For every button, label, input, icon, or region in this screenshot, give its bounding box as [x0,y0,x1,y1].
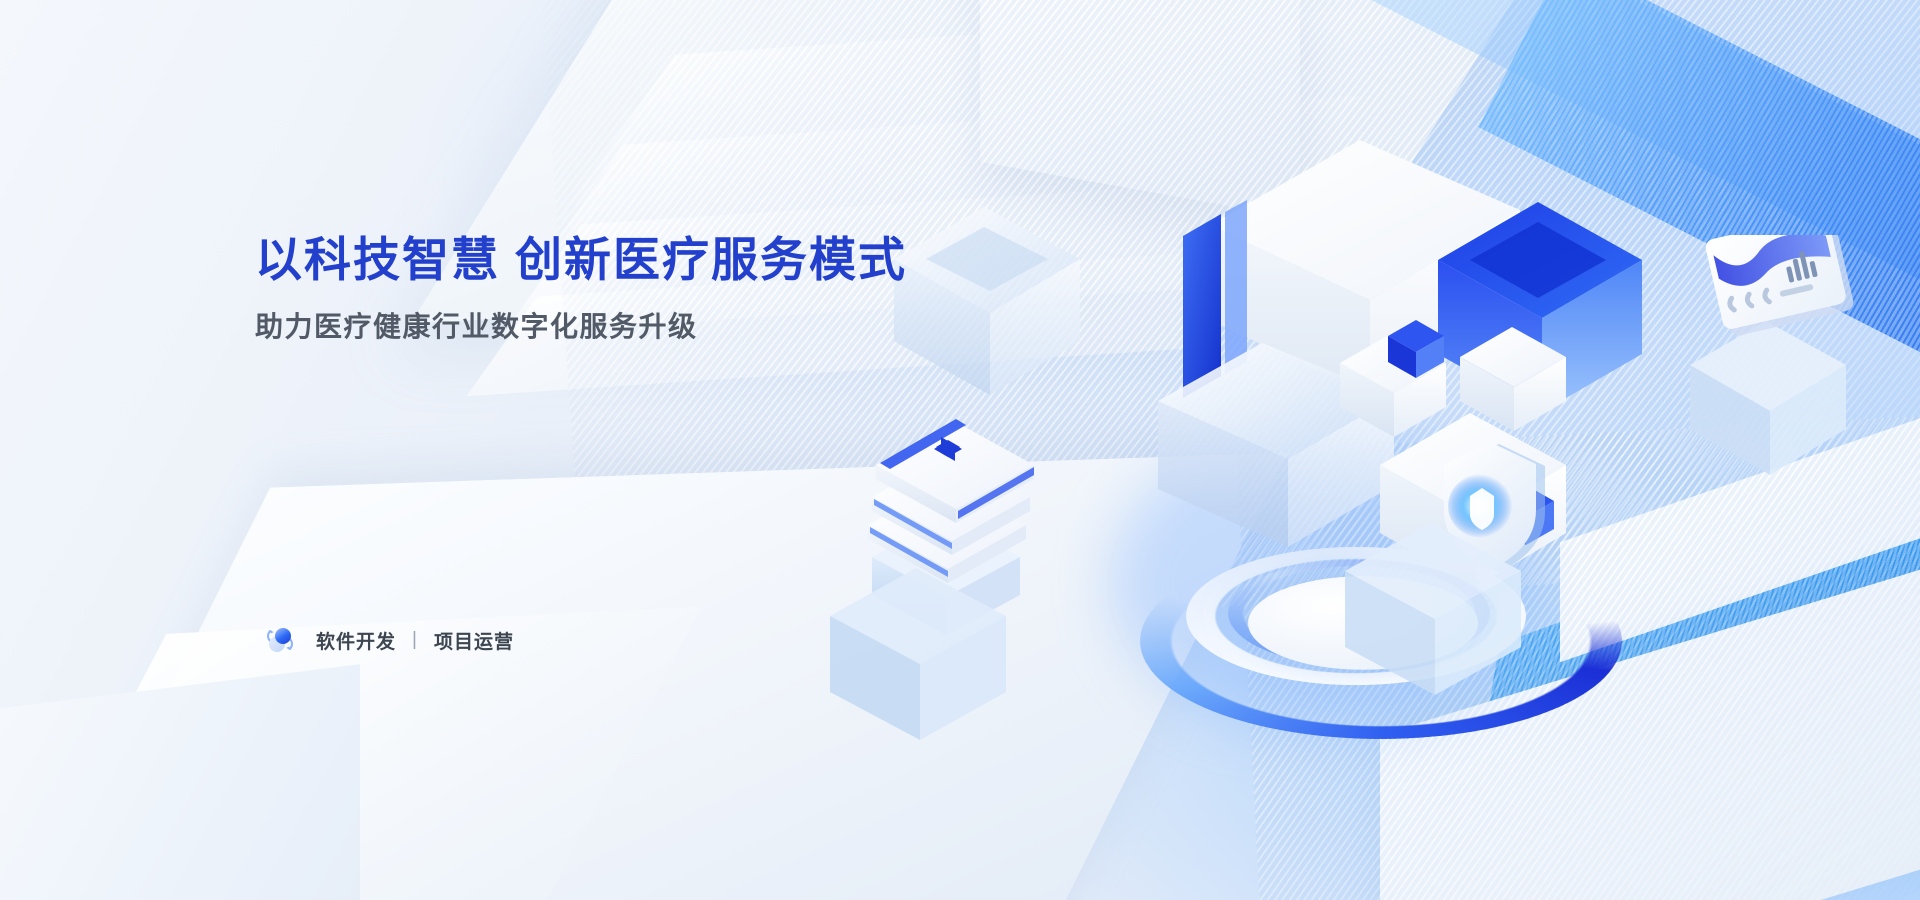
tag-separator: | [412,629,418,651]
hero-copy: 以科技智慧 创新医疗服务模式 助力医疗健康行业数字化服务升级 [255,232,907,345]
glass-cube-bottom-left [820,560,1020,760]
dashboard-card-3d [1680,235,1910,485]
page-subtitle: 助力医疗健康行业数字化服务升级 [255,305,907,345]
glass-cube-left [880,195,1110,425]
hero-banner: 以科技智慧 创新医疗服务模式 助力医疗健康行业数字化服务升级 [0,0,1920,900]
service-tag-0: 软件开发 [316,627,396,654]
hero-illustration [990,130,1890,690]
service-tag-list: 软件开发 | 项目运营 [316,627,514,654]
glass-cube-bottom-right [1335,515,1535,715]
service-tags: 软件开发 | 项目运营 [262,622,514,658]
service-tag-1: 项目运营 [434,627,514,654]
orbit-sphere-icon [262,622,298,658]
page-title: 以科技智慧 创新医疗服务模式 [255,232,907,288]
background-fold-left [0,664,360,900]
small-blue-cube [1382,312,1452,392]
